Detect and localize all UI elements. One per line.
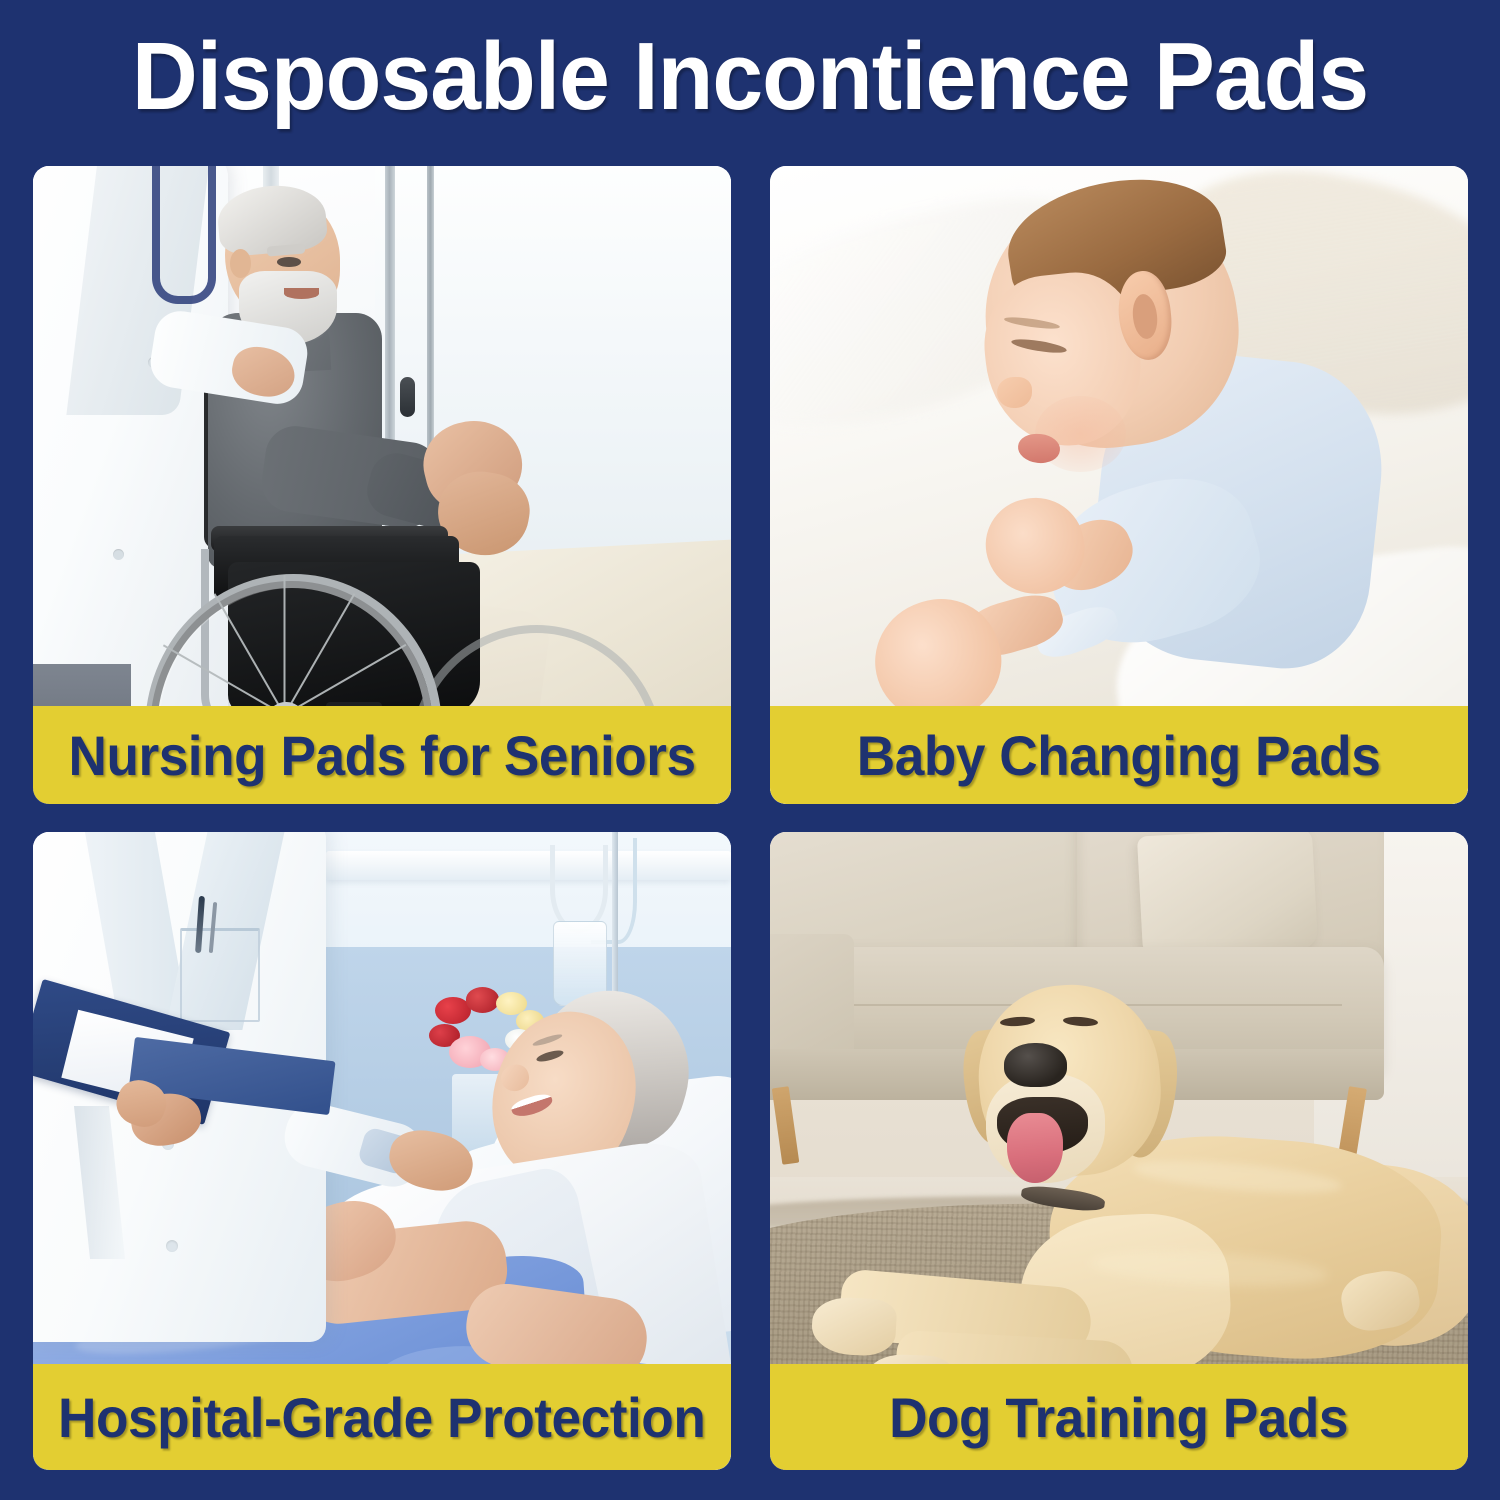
product-poster: Disposable Incontience Pads (0, 0, 1500, 1500)
feature-card-nursing-pads-for-seniors[interactable]: Nursing Pads for Seniors (33, 166, 731, 804)
card-label-text: Nursing Pads for Seniors (68, 723, 695, 788)
senior-ear (230, 249, 251, 278)
throw-pillow (1137, 832, 1318, 958)
wall-rail (326, 851, 731, 880)
dog-tongue (1007, 1113, 1063, 1183)
dog-nose (1004, 1043, 1067, 1088)
card-label-text: Hospital-Grade Protection (58, 1385, 705, 1450)
card-label-banner: Dog Training Pads (770, 1364, 1468, 1470)
coat-button (166, 1240, 178, 1252)
door-handle (400, 377, 415, 417)
card-label-text: Dog Training Pads (890, 1385, 1349, 1450)
stethoscope (152, 166, 216, 304)
feature-card-dog-training-pads[interactable]: Dog Training Pads (770, 832, 1468, 1470)
feature-card-baby-changing-pads[interactable]: Baby Changing Pads (770, 166, 1468, 804)
card-label-banner: Baby Changing Pads (770, 706, 1468, 804)
card-label-banner: Hospital-Grade Protection (33, 1364, 731, 1470)
card-label-banner: Nursing Pads for Seniors (33, 706, 731, 804)
feature-grid: Nursing Pads for Seniors (33, 166, 1468, 1470)
senior-eye (277, 257, 301, 267)
baby-nose (997, 377, 1032, 409)
card-label-text: Baby Changing Pads (857, 723, 1381, 788)
coat-pocket (180, 928, 261, 1022)
page-title: Disposable Incontience Pads (38, 18, 1463, 136)
feature-card-hospital-grade-protection[interactable]: Hospital-Grade Protection (33, 832, 731, 1470)
red-rose (466, 987, 500, 1012)
coat-button (113, 549, 124, 560)
